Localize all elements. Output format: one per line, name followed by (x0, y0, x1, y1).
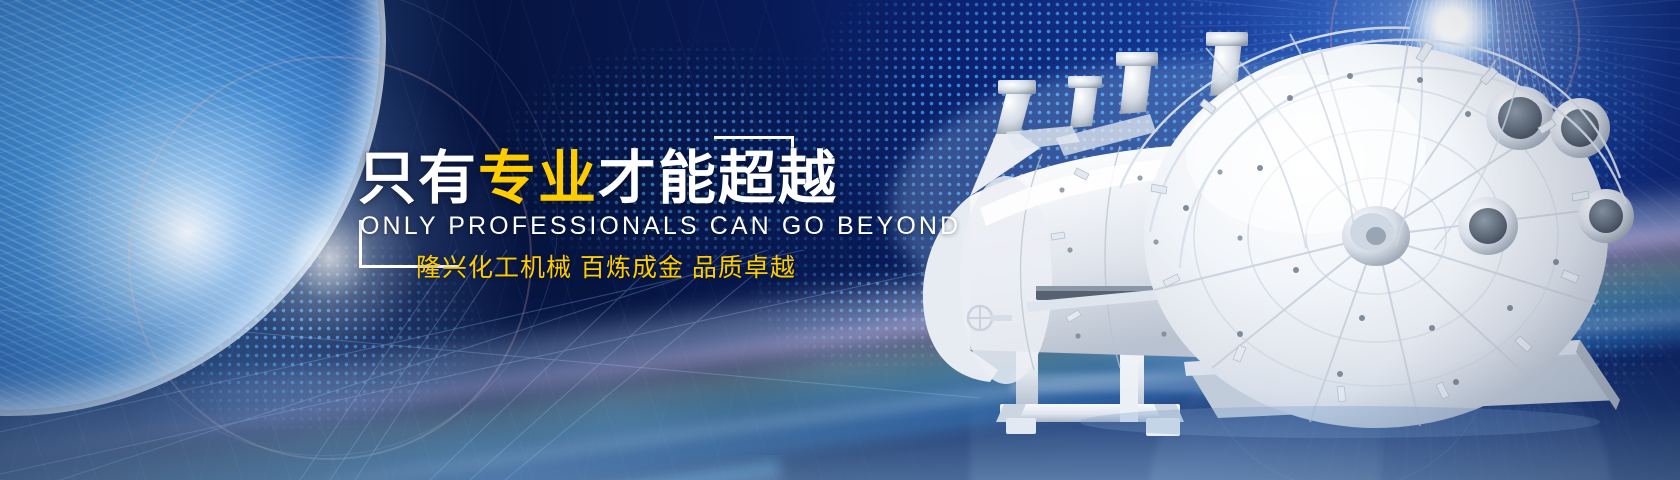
subline-chinese: 隆兴化工机械 百炼成金 品质卓越 (416, 248, 796, 284)
hero-copy-block: 只有专业才能超越 ONLY PROFESSIONALS CAN GO BEYON… (330, 122, 830, 282)
hero-banner: 只有专业才能超越 ONLY PROFESSIONALS CAN GO BEYON… (0, 0, 1680, 480)
headline-suffix: 才能超越 (598, 146, 838, 211)
headline-accent: 专业 (478, 146, 598, 211)
subline-english: ONLY PROFESSIONALS CAN GO BEYOND (360, 212, 961, 241)
headline-prefix: 只有 (358, 146, 478, 211)
headline: 只有专业才能超越 (358, 150, 838, 208)
floor-reflection-sheen (0, 360, 1680, 480)
